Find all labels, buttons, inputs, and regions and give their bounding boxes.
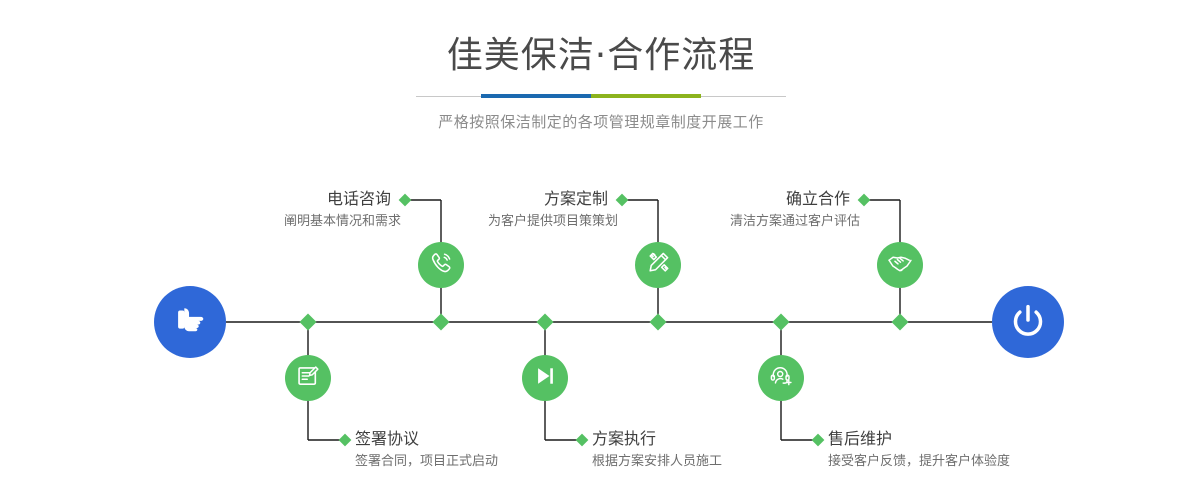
step-label-5: 确立合作 清洁方案通过客户评估 <box>614 188 860 232</box>
handshake-icon <box>886 249 914 281</box>
step-label-2: 签署协议 签署合同，项目正式启动 <box>345 428 605 472</box>
step-label-6-desc: 接受客户反馈，提升客户体验度 <box>818 452 1098 472</box>
spine-marker-4 <box>537 314 554 331</box>
step-label-2-title: 签署协议 <box>345 428 605 450</box>
spine-marker-2 <box>300 314 317 331</box>
step-label-2-desc: 签署合同，项目正式启动 <box>345 452 605 472</box>
step-node-1[interactable] <box>418 242 464 288</box>
step-label-1-title: 电话咨询 <box>155 188 401 210</box>
spine-marker-5 <box>892 314 909 331</box>
step-node-5[interactable] <box>877 242 923 288</box>
step-label-6: 售后维护 接受客户反馈，提升客户体验度 <box>818 428 1098 472</box>
step-label-5-title: 确立合作 <box>614 188 860 210</box>
step-label-4-title: 方案执行 <box>582 428 842 450</box>
power-icon <box>1008 300 1048 344</box>
step-node-2[interactable] <box>285 355 331 401</box>
phone-call-icon <box>428 250 454 280</box>
timeline-end-endpoint[interactable] <box>992 286 1064 358</box>
support-agent-add-icon <box>768 363 794 393</box>
spine-marker-3 <box>650 314 667 331</box>
pointing-hand-icon <box>169 299 211 345</box>
cooperation-flow-infographic: 佳美保洁·合作流程 严格按照保洁制定的各项管理规章制度开展工作 <box>0 0 1202 502</box>
pencil-ruler-icon <box>645 250 671 280</box>
step-label-4-desc: 根据方案安排人员施工 <box>582 452 842 472</box>
step-label-1: 电话咨询 阐明基本情况和需求 <box>155 188 401 232</box>
step-label-1-desc: 阐明基本情况和需求 <box>155 212 401 232</box>
step-label-5-desc: 清洁方案通过客户评估 <box>614 212 860 232</box>
step-node-3[interactable] <box>635 242 681 288</box>
spine-marker-6 <box>773 314 790 331</box>
step-node-6[interactable] <box>758 355 804 401</box>
step-label-4: 方案执行 根据方案安排人员施工 <box>582 428 842 472</box>
step-node-4[interactable] <box>522 355 568 401</box>
spine-marker-1 <box>433 314 450 331</box>
step-label-3-title: 方案定制 <box>372 188 618 210</box>
step-label-6-title: 售后维护 <box>818 428 1098 450</box>
step-label-3-desc: 为客户提供项目策策划 <box>372 212 618 232</box>
document-edit-icon <box>295 363 321 393</box>
timeline-connectors <box>0 0 1202 502</box>
play-skip-icon <box>532 363 558 393</box>
step-label-3: 方案定制 为客户提供项目策策划 <box>372 188 618 232</box>
timeline-start-endpoint[interactable] <box>154 286 226 358</box>
